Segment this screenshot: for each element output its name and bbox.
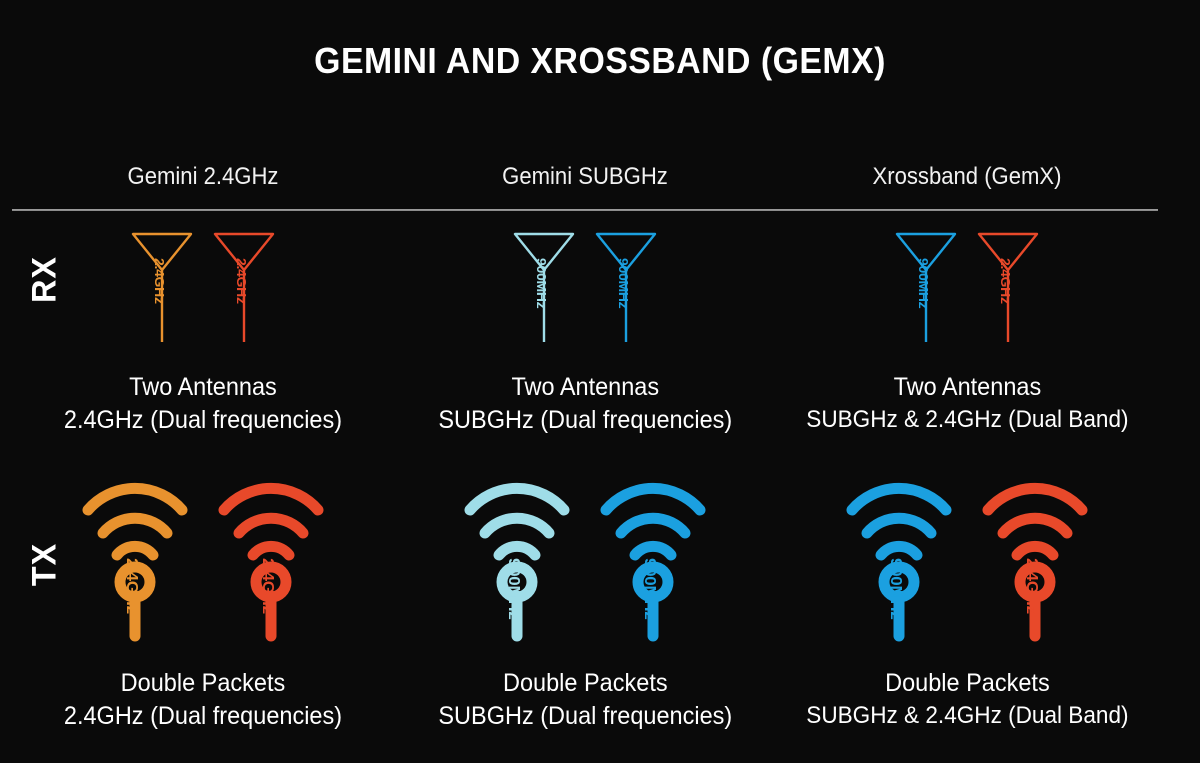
tx-freq-label: 900MHz [887,558,905,620]
tx-antenna-pair: 900MHz 2.4GHz [843,470,1091,647]
page-title: GEMINI AND XROSSBAND (GEMX) [36,40,1164,82]
tx-wifi-antenna-icon: 900MHz [597,470,709,647]
tx-freq-label: 2.4GHz [123,558,141,614]
column-header-gemini-24ghz: Gemini 2.4GHz [27,163,378,191]
tx-antenna-pair: 900MHz 900MHz [461,470,709,647]
rx-freq-label: 900MHz [616,258,631,308]
rx-antenna-pair: 2.4GHz 2.4GHz [130,222,276,349]
tx-cell-gemini-24ghz: 2.4GHz 2.4GHz Double P [12,470,394,731]
rx-freq-label: 2.4GHz [234,258,249,304]
rx-caption-line2: 2.4GHz (Dual frequencies) [64,406,342,435]
rx-antenna-icon: 2.4GHz [130,222,194,349]
tx-wifi-glyph [979,470,1091,642]
column-header-xrossband: Xrossband (GemX) [791,163,1142,191]
tx-caption-line1: Double Packets [64,669,342,698]
rx-cell-gemini-24ghz: 2.4GHz 2.4GHz Two Antennas 2.4GHz (Dual … [12,222,394,435]
tx-caption: Double Packets SUBGHz & 2.4GHz (Dual Ban… [806,669,1128,730]
rx-caption-line1: Two Antennas [64,373,342,402]
tx-caption: Double Packets 2.4GHz (Dual frequencies) [64,669,342,731]
tx-cell-xrossband: 900MHz 2.4GHz Double P [776,470,1158,731]
tx-caption-line2: SUBGHz (Dual frequencies) [438,702,732,731]
tx-freq-label: 900MHz [505,558,523,620]
rx-antenna-icon: 900MHz [594,222,658,349]
tx-caption: Double Packets SUBGHz (Dual frequencies) [438,669,732,731]
tx-wifi-antenna-icon: 900MHz [843,470,955,647]
slide-root: GEMINI AND XROSSBAND (GEMX) Gemini 2.4GH… [0,0,1200,763]
rx-caption: Two Antennas 2.4GHz (Dual frequencies) [64,373,342,435]
tx-caption-line1: Double Packets [438,669,732,698]
rx-antenna-pair: 900MHz 900MHz [512,222,658,349]
tx-caption-line2: SUBGHz & 2.4GHz (Dual Band) [806,702,1128,730]
tx-wifi-glyph [79,470,191,642]
tx-freq-label: 2.4GHz [1023,558,1041,614]
rx-caption: Two Antennas SUBGHz (Dual frequencies) [438,373,732,435]
rx-caption: Two Antennas SUBGHz & 2.4GHz (Dual Band) [806,373,1128,434]
header-divider [12,209,1158,211]
rx-freq-label: 2.4GHz [998,258,1013,304]
rx-antenna-icon: 900MHz [512,222,576,349]
tx-freq-label: 900MHz [641,558,659,620]
tx-freq-label: 2.4GHz [259,558,277,614]
tx-row: 2.4GHz 2.4GHz Double P [12,470,1158,731]
rx-row: 2.4GHz 2.4GHz Two Antennas 2.4GHz (Dual … [12,222,1158,435]
rx-antenna-icon: 2.4GHz [212,222,276,349]
tx-wifi-antenna-icon: 2.4GHz [215,470,327,647]
rx-caption-line1: Two Antennas [438,373,732,402]
tx-wifi-antenna-icon: 2.4GHz [979,470,1091,647]
column-header-gemini-subghz: Gemini SUBGHz [409,163,760,191]
rx-cell-xrossband: 900MHz 2.4GHz Two Antennas SUBGHz & 2.4G… [776,222,1158,435]
rx-freq-label: 900MHz [916,258,931,308]
tx-caption-line1: Double Packets [806,669,1128,698]
tx-wifi-antenna-icon: 2.4GHz [79,470,191,647]
rx-caption-line2: SUBGHz & 2.4GHz (Dual Band) [806,406,1128,434]
rx-caption-line2: SUBGHz (Dual frequencies) [438,406,732,435]
rx-antenna-pair: 900MHz 2.4GHz [894,222,1040,349]
rx-cell-gemini-subghz: 900MHz 900MHz Two Antennas SUBGHz (Dual … [394,222,776,435]
tx-wifi-antenna-icon: 900MHz [461,470,573,647]
rx-antenna-icon: 2.4GHz [976,222,1040,349]
tx-cell-gemini-subghz: 900MHz 900MHz Double P [394,470,776,731]
tx-wifi-glyph [215,470,327,642]
column-header-row: Gemini 2.4GHz Gemini SUBGHz Xrossband (G… [12,163,1158,191]
rx-freq-label: 900MHz [534,258,549,308]
rx-freq-label: 2.4GHz [152,258,167,304]
rx-caption-line1: Two Antennas [806,373,1128,402]
tx-caption-line2: 2.4GHz (Dual frequencies) [64,702,342,731]
tx-antenna-pair: 2.4GHz 2.4GHz [79,470,327,647]
rx-antenna-icon: 900MHz [894,222,958,349]
